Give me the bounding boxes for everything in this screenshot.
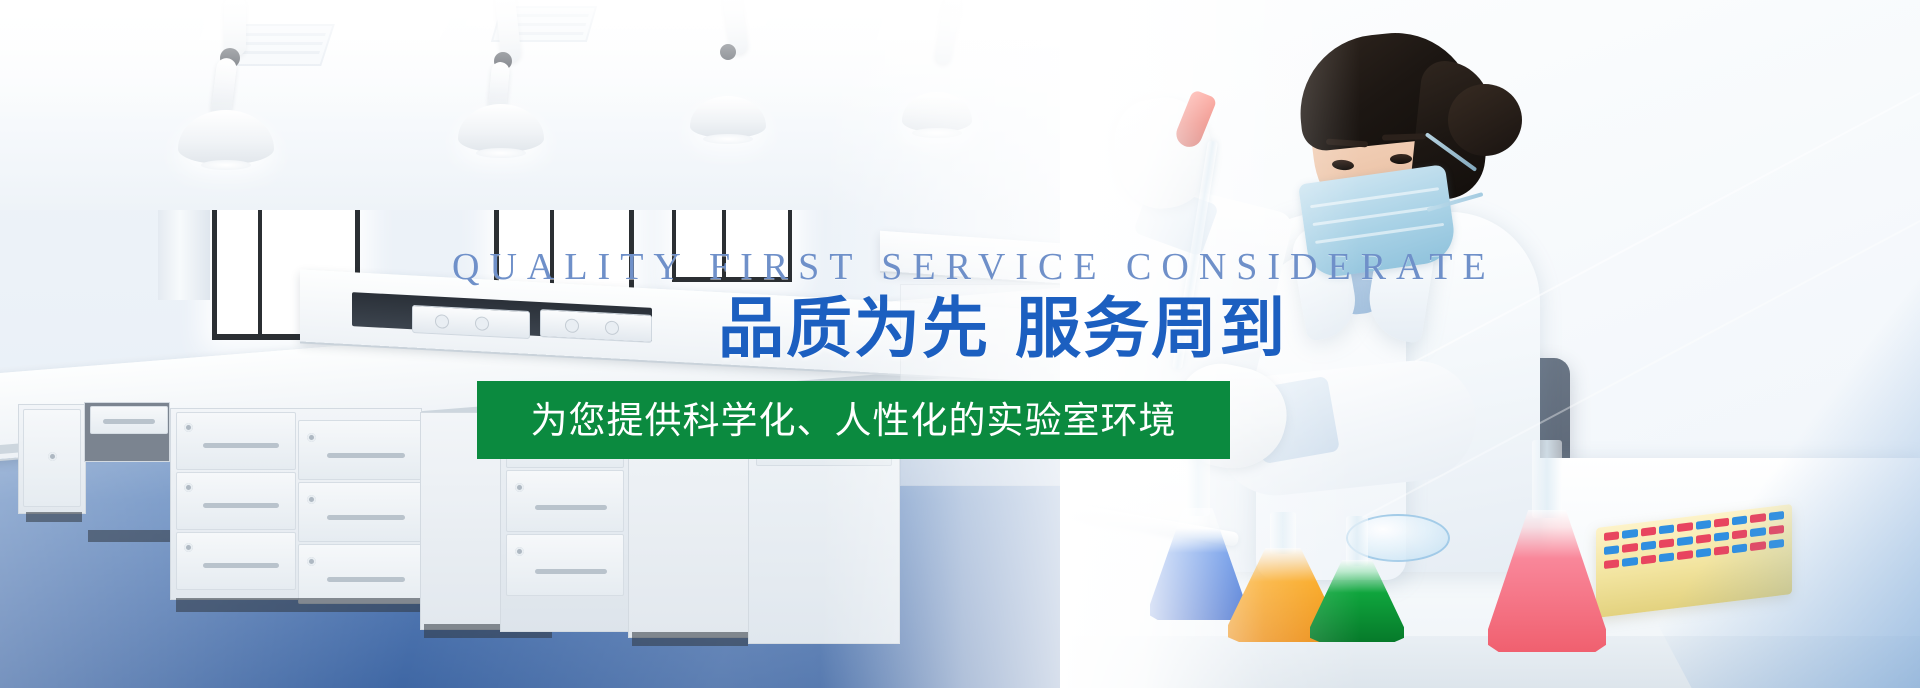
- drawer: [298, 420, 422, 480]
- flask-green: [1310, 516, 1404, 642]
- english-tagline: QUALITY FIRST SERVICE CONSIDERATE: [452, 248, 1496, 286]
- hair-bun: [1448, 84, 1522, 156]
- bench-fittings: [540, 309, 652, 343]
- drawer: [176, 532, 296, 590]
- drawer-cabinet: [26, 512, 82, 522]
- drawer: [506, 470, 624, 532]
- drawer: [298, 544, 422, 604]
- drawer-cabinet: [88, 530, 174, 542]
- drawer-cabinet: [176, 598, 426, 612]
- subtitle-bar: 为您提供科学化、人性化的实验室环境: [477, 381, 1230, 459]
- drawer: [176, 412, 296, 470]
- headline: 品质为先 服务周到: [718, 294, 1287, 364]
- drawer-cabinet: [632, 632, 748, 646]
- drawer-cabinet: [90, 406, 168, 434]
- drawer: [176, 472, 296, 530]
- subtitle-bar-text: 为您提供科学化、人性化的实验室环境: [531, 402, 1177, 439]
- drawer-cabinet: [18, 404, 86, 514]
- drawer: [298, 482, 422, 542]
- hero-banner: QUALITY FIRST SERVICE CONSIDERATE 品质为先 服…: [0, 0, 1920, 688]
- drawer: [506, 534, 624, 596]
